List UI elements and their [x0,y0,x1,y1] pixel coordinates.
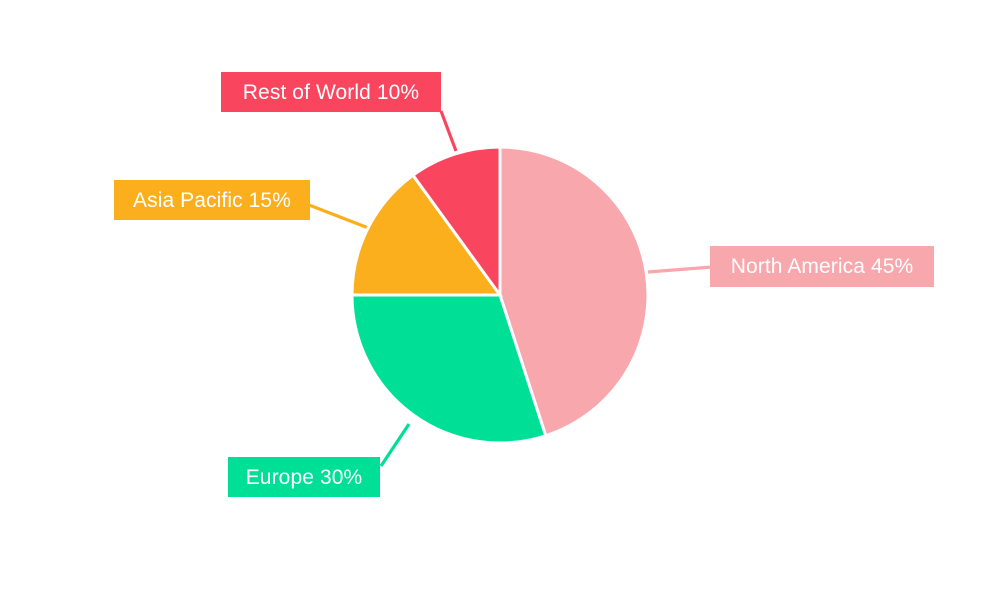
pie-label-europe[interactable]: Europe 30% [228,457,380,497]
pie-label-north-america-text: North America 45% [731,256,914,277]
pie-label-asia-pacific-text: Asia Pacific 15% [133,190,291,211]
leader-line-north-america [648,267,712,272]
pie-chart-svg [0,0,1000,600]
pie-label-north-america[interactable]: North America 45% [710,246,934,287]
pie-label-europe-text: Europe 30% [246,467,363,488]
pie-slices [352,147,648,443]
pie-label-rest-of-world-text: Rest of World 10% [243,82,419,103]
leader-line-europe [381,424,409,466]
leader-line-rest-of-world [441,111,456,151]
pie-label-rest-of-world[interactable]: Rest of World 10% [221,72,441,112]
chart-canvas: North America 45% Europe 30% Asia Pacifi… [0,0,1000,600]
leader-line-asia-pacific [309,205,371,229]
pie-label-asia-pacific[interactable]: Asia Pacific 15% [114,180,310,220]
